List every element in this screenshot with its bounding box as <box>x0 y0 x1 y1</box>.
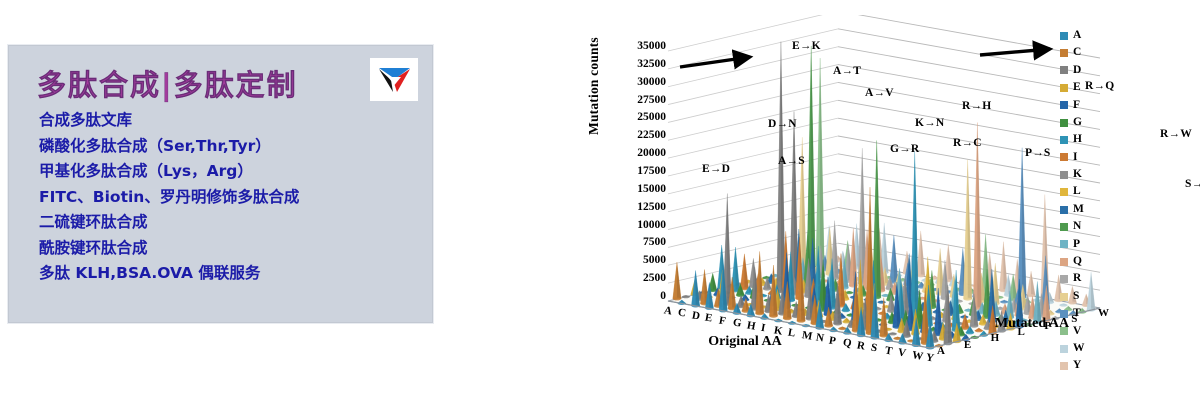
legend-item-N[interactable]: N <box>1060 218 1122 235</box>
legend-item-G[interactable]: G <box>1060 114 1122 131</box>
legend-label: Y <box>1073 360 1081 372</box>
legend-item-E[interactable]: E <box>1060 79 1122 96</box>
legend-swatch-icon <box>1060 119 1068 127</box>
legend-label: L <box>1073 186 1081 198</box>
legend-item-Q[interactable]: Q <box>1060 253 1122 270</box>
promo-panel: 多肽合成|多肽定制 合成多肽文库 磷酸化多肽合成（Ser,Thr,Tyr） 甲基… <box>8 45 433 323</box>
screenshot-root: 多肽合成|多肽定制 合成多肽文库 磷酸化多肽合成（Ser,Thr,Tyr） 甲基… <box>0 0 1200 400</box>
promo-title: 多肽合成|多肽定制 <box>37 62 298 104</box>
peak-annotation-P-to-S: P→S <box>1025 147 1051 159</box>
legend-swatch-icon <box>1060 66 1068 74</box>
legend-label: G <box>1073 117 1082 129</box>
right-trend-arrow <box>980 49 1050 55</box>
legend-label: H <box>1073 134 1082 146</box>
legend-swatch-icon <box>1060 240 1068 248</box>
original-aa-tick-T: T <box>884 344 893 357</box>
legend-label: V <box>1073 326 1081 338</box>
legend-swatch-icon <box>1060 84 1068 92</box>
logo-icon <box>374 62 414 98</box>
legend-label: M <box>1073 204 1084 216</box>
legend-swatch-icon <box>1060 310 1068 318</box>
legend-swatch-icon <box>1060 49 1068 57</box>
legend-item-P[interactable]: P <box>1060 236 1122 253</box>
peak-annotation-K-to-N: K→N <box>915 117 944 129</box>
mutated-aa-tick-H: H <box>991 332 1000 344</box>
legend-label: S <box>1073 291 1079 303</box>
peak-annotation-S-to-Y: S→Y <box>1185 178 1200 190</box>
peak-annotation-E-to-K: E→K <box>792 40 821 52</box>
legend-swatch-icon <box>1060 223 1068 231</box>
legend-swatch-icon <box>1060 275 1068 283</box>
legend-item-D[interactable]: D <box>1060 62 1122 79</box>
legend-label: E <box>1073 82 1081 94</box>
peak-annotation-G-to-R: G→R <box>890 143 919 155</box>
original-aa-tick-Q: Q <box>842 337 853 350</box>
legend-item-K[interactable]: K <box>1060 166 1122 183</box>
peak-annotation-E-to-D: E→D <box>702 163 730 175</box>
promo-line-5: 二硫键环肽合成 <box>39 210 419 236</box>
legend-swatch-icon <box>1060 153 1068 161</box>
peak-annotation-R-to-H: R→H <box>962 100 991 112</box>
legend-swatch-icon <box>1060 32 1068 40</box>
legend-item-Y[interactable]: Y <box>1060 357 1122 374</box>
legend-label: A <box>1073 30 1081 42</box>
promo-line-3: 甲基化多肽合成（Lys，Arg） <box>39 159 419 185</box>
legend-item-R[interactable]: R <box>1060 270 1122 287</box>
legend-label: R <box>1073 273 1081 285</box>
original-aa-tick-M: M <box>801 329 813 343</box>
legend-item-T[interactable]: T <box>1060 305 1122 322</box>
peak-annotation-A-to-S: A→S <box>778 155 805 167</box>
legend-item-L[interactable]: L <box>1060 184 1122 201</box>
legend-item-C[interactable]: C <box>1060 44 1122 61</box>
legend-item-S[interactable]: S <box>1060 288 1122 305</box>
promo-service-list: 合成多肽文库 磷酸化多肽合成（Ser,Thr,Tyr） 甲基化多肽合成（Lys，… <box>39 108 419 287</box>
legend-swatch-icon <box>1060 101 1068 109</box>
legend-label: W <box>1073 343 1085 355</box>
original-aa-tick-W: W <box>911 349 924 363</box>
peak-annotation-R-to-C: R→C <box>953 137 982 149</box>
legend-label: C <box>1073 47 1081 59</box>
legend-swatch-icon <box>1060 362 1068 370</box>
legend-item-A[interactable]: A <box>1060 27 1122 44</box>
legend-label: Q <box>1073 256 1082 268</box>
legend-label: I <box>1073 152 1077 164</box>
peak-annotation-R-to-W: R→W <box>1160 128 1192 140</box>
company-logo <box>370 58 418 101</box>
legend-swatch-icon <box>1060 136 1068 144</box>
legend-label: D <box>1073 65 1081 77</box>
peak-annotation-A-to-T: A→T <box>833 65 861 77</box>
promo-line-1: 合成多肽文库 <box>39 108 419 134</box>
legend-label: F <box>1073 100 1080 112</box>
promo-line-6: 酰胺键环肽合成 <box>39 236 419 262</box>
x-axis-title: Original AA <box>690 333 800 350</box>
legend-label: T <box>1073 308 1081 320</box>
legend-item-H[interactable]: H <box>1060 131 1122 148</box>
original-aa-tick-N: N <box>815 332 825 345</box>
legend-swatch-icon <box>1060 345 1068 353</box>
promo-line-7: 多肽 KLH,BSA.OVA 偶联服务 <box>39 261 419 287</box>
left-trend-arrow <box>680 57 750 67</box>
legend-label: P <box>1073 239 1080 251</box>
mutated-aa-tick-E: E <box>964 339 971 351</box>
legend-swatch-icon <box>1060 206 1068 214</box>
legend-swatch-icon <box>1060 327 1068 335</box>
legend-swatch-icon <box>1060 293 1068 301</box>
legend-label: N <box>1073 221 1081 233</box>
peak-annotation-D-to-N: D→N <box>768 118 797 130</box>
legend-item-I[interactable]: I <box>1060 149 1122 166</box>
legend-item-F[interactable]: F <box>1060 97 1122 114</box>
legend-item-W[interactable]: W <box>1060 340 1122 357</box>
legend-label: K <box>1073 169 1082 181</box>
mutated-aa-tick-A: A <box>937 345 945 357</box>
legend-swatch-icon <box>1060 171 1068 179</box>
peak-annotation-A-to-V: A→V <box>865 87 894 99</box>
original-aa-tick-D: D <box>691 309 701 322</box>
legend-item-V[interactable]: V <box>1060 323 1122 340</box>
mutation-3d-chart: Mutation counts 350003250030000275002500… <box>590 15 1195 395</box>
legend-swatch-icon <box>1060 258 1068 266</box>
original-aa-tick-H: H <box>746 319 757 332</box>
promo-line-4: FITC、Biotin、罗丹明修饰多肽合成 <box>39 185 419 211</box>
amino-acid-legend[interactable]: ACDEFGHIKLMNPQRSTVWY <box>1060 27 1122 375</box>
legend-item-M[interactable]: M <box>1060 201 1122 218</box>
legend-swatch-icon <box>1060 188 1068 196</box>
original-aa-tick-G: G <box>732 317 743 330</box>
promo-line-2: 磷酸化多肽合成（Ser,Thr,Tyr） <box>39 134 419 160</box>
